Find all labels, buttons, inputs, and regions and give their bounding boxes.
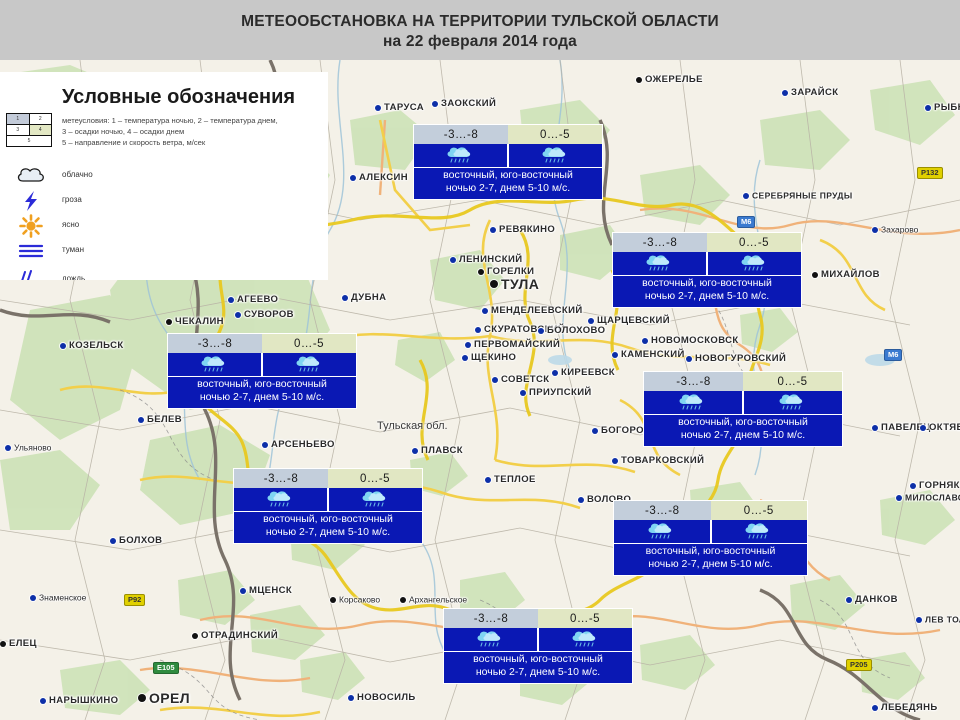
lightning-icon	[14, 189, 48, 213]
day-temperature: 0…-5	[743, 372, 842, 391]
temperature-row: -3…-8 0…-5	[168, 334, 356, 353]
rain-cloud-icon	[359, 490, 393, 509]
day-temperature: 0…-5	[711, 501, 808, 520]
rain-cloud-icon	[676, 393, 710, 412]
legend-title: Условные обозначения	[62, 86, 295, 109]
sun-icon	[14, 214, 48, 238]
precipitation-row	[414, 144, 602, 167]
legend-description-line-1: метеусловия: 1 – температура ночью, 2 – …	[62, 116, 320, 127]
rain-cloud-icon	[293, 355, 327, 374]
night-temperature: -3…-8	[613, 233, 707, 252]
legend-label-cloudy: облачно	[62, 170, 93, 179]
wind-speed: ночью 2-7, днем 5-10 м/с.	[646, 429, 840, 442]
temperature-row: -3…-8 0…-5	[414, 125, 602, 144]
legend-cell-1: 1	[7, 114, 30, 125]
wind-direction: восточный, юго-восточный	[446, 653, 630, 666]
wind-direction: восточный, юго-восточный	[170, 378, 354, 391]
precipitation-row	[644, 391, 842, 414]
night-temperature: -3…-8	[234, 469, 328, 488]
temperature-row: -3…-8 0…-5	[234, 469, 422, 488]
temperature-row: -3…-8 0…-5	[614, 501, 807, 520]
fog-icon	[14, 239, 48, 263]
precipitation-row	[444, 628, 632, 651]
legend-label-rain: дождь	[62, 274, 85, 280]
wind-speed: ночью 2-7, днем 5-10 м/с.	[446, 666, 630, 679]
precipitation-row	[613, 252, 801, 275]
wind-info: восточный, юго-восточный ночью 2-7, днем…	[414, 167, 602, 199]
rain-cloud-icon	[776, 393, 810, 412]
legend-diagram: 1 2 3 4 5	[6, 113, 52, 145]
rain-cloud-icon	[569, 630, 603, 649]
day-precip-icon	[537, 628, 632, 651]
night-precip-icon	[168, 353, 261, 376]
day-temperature: 0…-5	[508, 125, 602, 144]
night-temperature: -3…-8	[168, 334, 262, 353]
night-precip-icon	[444, 628, 537, 651]
legend-cell-5: 5	[7, 136, 52, 147]
legend-panel: Условные обозначения 1 2 3 4 5 метеуслов…	[0, 72, 328, 280]
temperature-row: -3…-8 0…-5	[644, 372, 842, 391]
wind-info: восточный, юго-восточный ночью 2-7, днем…	[644, 414, 842, 446]
legend-cell-4: 4	[29, 125, 52, 136]
legend-description: метеусловия: 1 – температура ночью, 2 – …	[62, 116, 320, 148]
legend-description-line-3: 5 – направление и скорость ветра, м/сек	[62, 138, 320, 149]
day-precip-icon	[261, 353, 356, 376]
day-precip-icon	[507, 144, 602, 167]
temperature-row: -3…-8 0…-5	[444, 609, 632, 628]
weather-box-east[interactable]: -3…-8 0…-5 восточный, юго-восточный ночь…	[643, 371, 843, 447]
legend-description-line-2: 3 – осадки ночью, 4 – осадки днем	[62, 127, 320, 138]
wind-speed: ночью 2-7, днем 5-10 м/с.	[236, 526, 420, 539]
wind-direction: восточный, юго-восточный	[236, 513, 420, 526]
night-precip-icon	[234, 488, 327, 511]
day-precip-icon	[710, 520, 808, 543]
wind-speed: ночью 2-7, днем 5-10 м/с.	[416, 182, 600, 195]
precipitation-row	[234, 488, 422, 511]
rain-cloud-icon	[264, 490, 298, 509]
wind-info: восточный, юго-восточный ночью 2-7, днем…	[444, 651, 632, 683]
rain-cloud-icon	[444, 146, 478, 165]
wind-direction: восточный, юго-восточный	[646, 416, 840, 429]
wind-info: восточный, юго-восточный ночью 2-7, днем…	[614, 543, 807, 575]
weather-map-page: ОЖЕРЕЛЬЕЗАРАЙСКРЫБНОЕТАРУСАЗАОКСКИЙАЛЕКС…	[0, 0, 960, 720]
weather-box-north[interactable]: -3…-8 0…-5 восточный, юго-восточный ночь…	[413, 124, 603, 200]
weather-box-west[interactable]: -3…-8 0…-5 восточный, юго-восточный ночь…	[167, 333, 357, 409]
precipitation-row	[614, 520, 807, 543]
day-precip-icon	[706, 252, 801, 275]
temperature-row: -3…-8 0…-5	[613, 233, 801, 252]
weather-box-northeast[interactable]: -3…-8 0…-5 восточный, юго-восточный ночь…	[612, 232, 802, 308]
cloud-icon	[14, 164, 48, 188]
legend-label-thunder: гроза	[62, 195, 82, 204]
night-temperature: -3…-8	[414, 125, 508, 144]
wind-speed: ночью 2-7, днем 5-10 м/с.	[616, 558, 805, 571]
rain-cloud-icon	[645, 522, 679, 541]
day-temperature: 0…-5	[538, 609, 632, 628]
rain-cloud-icon	[539, 146, 573, 165]
weather-box-south[interactable]: -3…-8 0…-5 восточный, юго-восточный ночь…	[443, 608, 633, 684]
wind-info: восточный, юго-восточный ночью 2-7, днем…	[613, 275, 801, 307]
precipitation-row	[168, 353, 356, 376]
day-temperature: 0…-5	[707, 233, 801, 252]
header-title-line1: МЕТЕООБСТАНОВКА НА ТЕРРИТОРИИ ТУЛЬСКОЙ О…	[0, 13, 960, 31]
weather-box-southwest[interactable]: -3…-8 0…-5 восточный, юго-восточный ночь…	[233, 468, 423, 544]
rain-cloud-icon	[474, 630, 508, 649]
day-temperature: 0…-5	[328, 469, 422, 488]
night-temperature: -3…-8	[614, 501, 711, 520]
night-precip-icon	[644, 391, 742, 414]
night-precip-icon	[614, 520, 710, 543]
legend-cell-2: 2	[29, 114, 52, 125]
rain-icon	[14, 268, 48, 280]
day-temperature: 0…-5	[262, 334, 356, 353]
header-title-line2: на 22 февраля 2014 года	[0, 33, 960, 51]
wind-direction: восточный, юго-восточный	[615, 277, 799, 290]
day-precip-icon	[327, 488, 422, 511]
legend-label-clear: ясно	[62, 220, 79, 229]
legend-cell-3: 3	[7, 125, 30, 136]
wind-speed: ночью 2-7, днем 5-10 м/с.	[615, 290, 799, 303]
rain-cloud-icon	[742, 522, 776, 541]
night-precip-icon	[414, 144, 507, 167]
night-precip-icon	[613, 252, 706, 275]
legend-label-fog: туман	[62, 245, 84, 254]
wind-direction: восточный, юго-восточный	[416, 169, 600, 182]
wind-info: восточный, юго-восточный ночью 2-7, днем…	[234, 511, 422, 543]
day-precip-icon	[742, 391, 842, 414]
weather-box-southeast[interactable]: -3…-8 0…-5 восточный, юго-восточный ночь…	[613, 500, 808, 576]
rain-cloud-icon	[643, 254, 677, 273]
wind-direction: восточный, юго-восточный	[616, 545, 805, 558]
night-temperature: -3…-8	[444, 609, 538, 628]
rain-cloud-icon	[738, 254, 772, 273]
night-temperature: -3…-8	[644, 372, 743, 391]
wind-speed: ночью 2-7, днем 5-10 м/с.	[170, 391, 354, 404]
page-header: МЕТЕООБСТАНОВКА НА ТЕРРИТОРИИ ТУЛЬСКОЙ О…	[0, 0, 960, 60]
wind-info: восточный, юго-восточный ночью 2-7, днем…	[168, 376, 356, 408]
rain-cloud-icon	[198, 355, 232, 374]
